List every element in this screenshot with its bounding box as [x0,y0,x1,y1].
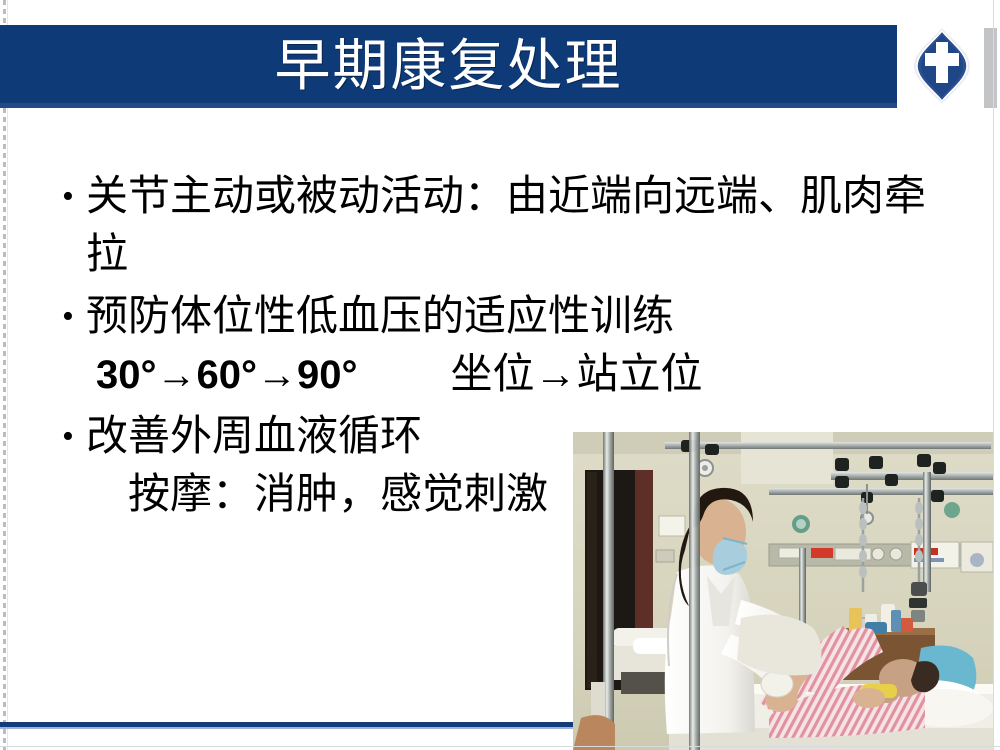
bullet-subline: 30°→60°→90° 坐位→站立位 [52,346,942,404]
decorative-gray-bar [984,28,997,108]
list-item: • 预防体位性低血压的适应性训练 30°→60°→90° 坐位→站立位 [52,288,942,404]
bullet-marker: • [52,408,86,466]
position-progression-text: 坐位→站立位 [450,352,702,398]
left-guide-rail-edge [7,0,8,750]
clinical-photo [573,432,993,750]
bullet-text: 预防体位性低血压的适应性训练 [86,288,942,346]
massage-note-text: 按摩：消肿，感觉刺激 [128,472,548,518]
bullet-marker: • [52,168,86,226]
bullet-marker: • [52,288,86,346]
bullet-text: 关节主动或被动活动：由近端向远端、肌肉牵拉 [86,168,942,284]
left-guide-rail [3,0,6,750]
angle-progression-text: 30°→60°→90° [96,353,357,397]
page-title: 早期康复处理 [0,25,897,108]
footer-rule-light [0,727,573,729]
list-item: • 关节主动或被动活动：由近端向远端、肌肉牵拉 [52,168,942,284]
right-edge-line [993,0,994,750]
medical-cross-diamond-icon [912,26,972,106]
slide-bottom-edge [0,746,1000,747]
slide-canvas: 早期康复处理 • 关节主动或被动活动：由近端向远端、肌肉牵拉 • 预防体位性低血… [0,0,1000,750]
